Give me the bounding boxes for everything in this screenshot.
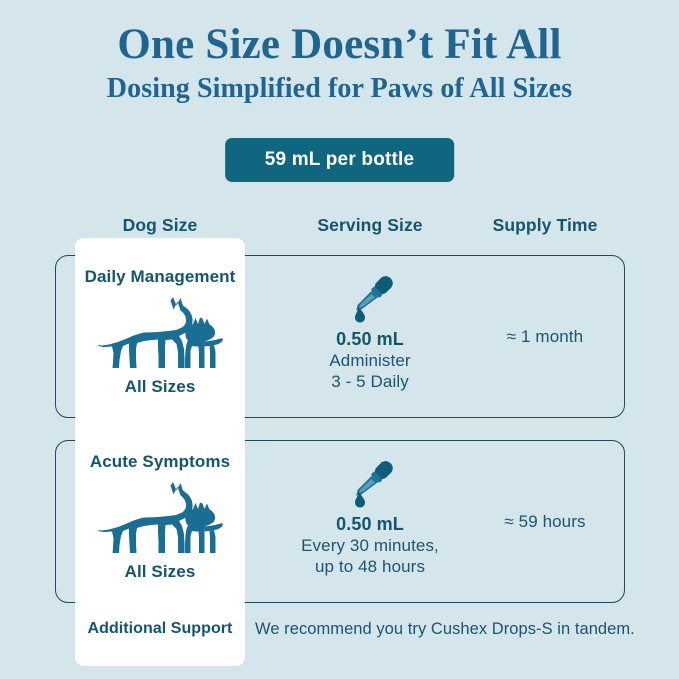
page-subtitle: Dosing Simplified for Paws of All Sizes (0, 72, 679, 106)
additional-support-row: Additional Support We recommend you try … (0, 608, 679, 664)
dose-instruction-line-1: Administer (265, 350, 475, 371)
column-header-supply-time: Supply Time (455, 215, 635, 236)
serving-size-cell: 0.50 mL Administer 3 - 5 Daily (265, 255, 475, 418)
dose-amount: 0.50 mL (265, 329, 475, 350)
dog-size-value: All Sizes (75, 562, 245, 582)
two-dogs-icon (75, 293, 245, 371)
additional-support-text: We recommend you try Cushex Drops-S in t… (255, 620, 655, 639)
dose-instruction-line-2: up to 48 hours (265, 556, 475, 577)
dropper-icon (265, 265, 475, 327)
page-title: One Size Doesn’t Fit All (0, 22, 679, 68)
column-header-dog-size: Dog Size (75, 215, 245, 236)
infographic-root: One Size Doesn’t Fit All Dosing Simplifi… (0, 0, 679, 679)
dropper-icon (265, 450, 475, 512)
title-block: One Size Doesn’t Fit All Dosing Simplifi… (0, 22, 679, 106)
additional-support-label: Additional Support (75, 620, 245, 638)
table-row: Daily Management All Sizes (0, 255, 679, 418)
row-category-label: Daily Management (75, 267, 245, 287)
two-dogs-icon (75, 478, 245, 556)
bottle-volume-badge: 59 mL per bottle (225, 138, 455, 182)
dose-instruction-line-1: Every 30 minutes, (265, 535, 475, 556)
supply-time-value: ≈ 59 hours (455, 512, 635, 532)
dose-instruction-line-2: 3 - 5 Daily (265, 371, 475, 392)
dog-size-cell: Daily Management All Sizes (75, 255, 245, 418)
column-header-serving-size: Serving Size (270, 215, 470, 236)
table-row: Acute Symptoms All Sizes (0, 440, 679, 603)
supply-time-cell: ≈ 1 month (455, 255, 635, 418)
serving-size-cell: 0.50 mL Every 30 minutes, up to 48 hours (265, 440, 475, 603)
supply-time-cell: ≈ 59 hours (455, 440, 635, 603)
dog-size-value: All Sizes (75, 377, 245, 397)
dose-amount: 0.50 mL (265, 514, 475, 535)
row-category-label: Acute Symptoms (75, 452, 245, 472)
supply-time-value: ≈ 1 month (455, 327, 635, 347)
dog-size-cell: Acute Symptoms All Sizes (75, 440, 245, 603)
